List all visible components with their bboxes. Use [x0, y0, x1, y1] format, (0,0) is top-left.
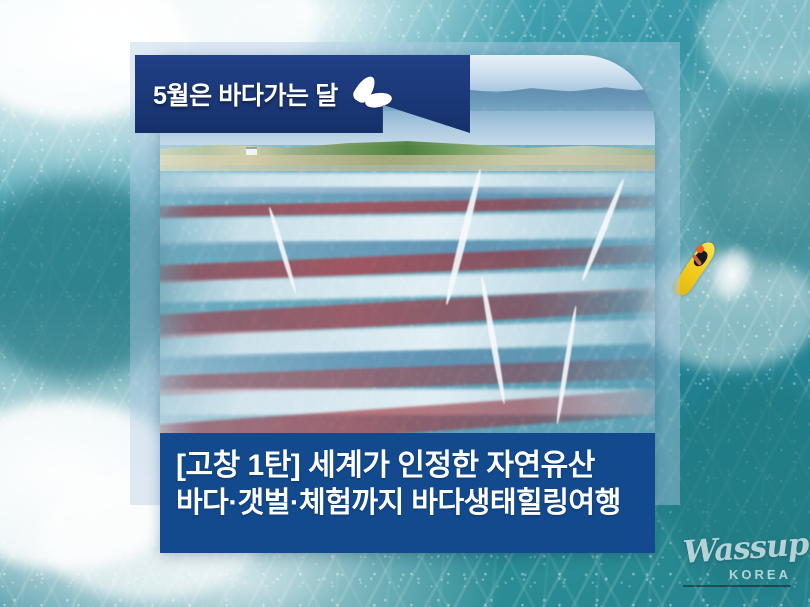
caption-block: [고창 1탄] 세계가 인정한 자연유산 바다·갯벌·체험까지 바다생태힐링여행: [160, 433, 655, 553]
ribbon-title: 5월은 바다가는 달: [153, 76, 338, 112]
photo-building: [246, 147, 257, 155]
caption-line-1: [고창 1탄] 세계가 인정한 자연유산: [176, 447, 655, 485]
poster-stage: [고창 1탄] 세계가 인정한 자연유산 바다·갯벌·체험까지 바다생태힐링여행…: [0, 0, 810, 607]
caption-line-2: 바다·갯벌·체험까지 바다생태힐링여행: [176, 485, 655, 523]
photo-sand-bar: [160, 155, 655, 171]
surfer-on-board-icon: [678, 222, 748, 312]
